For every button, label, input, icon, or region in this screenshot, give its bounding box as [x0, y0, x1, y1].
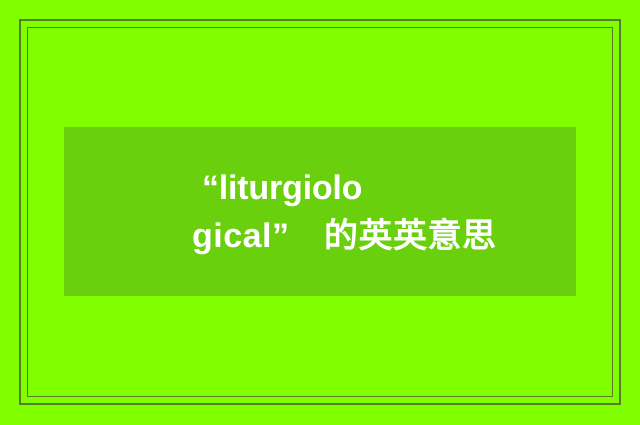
headline-panel: “liturgiolo gical” 的英英意思	[64, 127, 576, 296]
headline-text-block: “liturgiolo gical” 的英英意思	[64, 127, 576, 296]
headline-line-2: gical” 的英英意思	[192, 212, 496, 260]
headline-line-1: “liturgiolo	[202, 164, 362, 212]
poster-canvas: “liturgiolo gical” 的英英意思	[0, 0, 640, 425]
